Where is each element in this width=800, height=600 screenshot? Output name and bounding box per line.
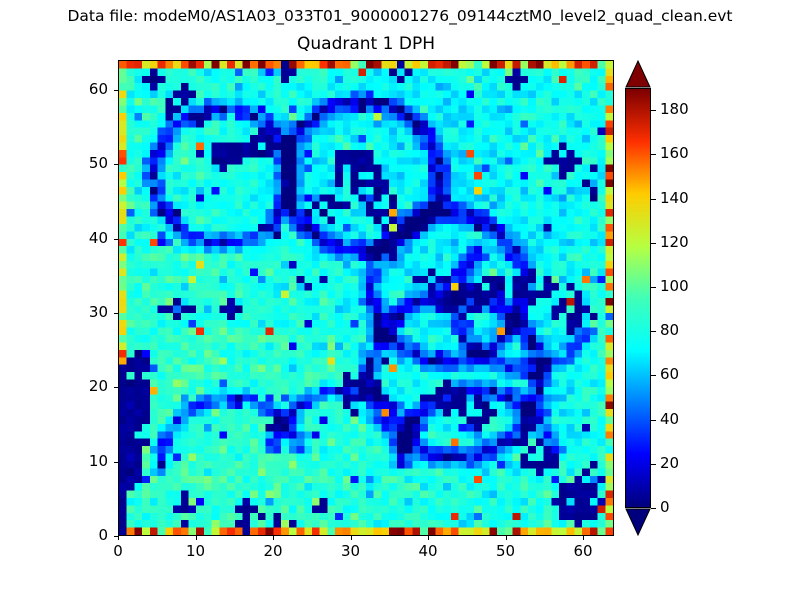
- x-tick-label: 50: [476, 543, 536, 560]
- x-tick-label: 60: [553, 543, 613, 560]
- y-tick-label: 30: [48, 304, 108, 321]
- x-tick-mark: [506, 536, 507, 540]
- x-tick-mark: [351, 536, 352, 540]
- data-file-suptitle: Data file: modeM0/AS1A03_033T01_90000012…: [0, 6, 800, 26]
- x-tick-label: 40: [398, 543, 458, 560]
- colorbar-tick-mark: [651, 243, 656, 244]
- figure-canvas: Data file: modeM0/AS1A03_033T01_90000012…: [0, 0, 800, 600]
- x-tick-mark: [428, 536, 429, 540]
- colorbar-tick-mark: [651, 287, 656, 288]
- x-tick-mark: [583, 536, 584, 540]
- x-tick-label: 20: [243, 543, 303, 560]
- x-tick-label: 0: [88, 543, 148, 560]
- colorbar[interactable]: [625, 60, 651, 536]
- x-tick-mark: [118, 536, 119, 540]
- y-tick-label: 20: [48, 378, 108, 395]
- y-tick-mark: [114, 462, 118, 463]
- colorbar-gradient: [626, 89, 650, 507]
- x-tick-label: 30: [321, 543, 381, 560]
- y-tick-mark: [114, 387, 118, 388]
- colorbar-tick-mark: [651, 508, 656, 509]
- y-tick-label: 0: [48, 527, 108, 544]
- y-tick-label: 10: [48, 453, 108, 470]
- colorbar-tick-label: 80: [660, 322, 679, 339]
- colorbar-tick-mark: [651, 420, 656, 421]
- colorbar-tick-label: 40: [660, 411, 679, 428]
- colorbar-tick-label: 120: [660, 234, 689, 251]
- colorbar-extend-top-arrow-icon: [625, 60, 651, 88]
- colorbar-tick-label: 0: [660, 499, 670, 516]
- colorbar-tick-label: 20: [660, 455, 679, 472]
- page-title: Quadrant 1 DPH: [118, 33, 614, 55]
- x-tick-label: 10: [166, 543, 226, 560]
- y-tick-label: 60: [48, 81, 108, 98]
- colorbar-tick-label: 180: [660, 101, 689, 118]
- colorbar-extend-bottom-arrow-icon: [625, 508, 651, 536]
- x-tick-mark: [196, 536, 197, 540]
- heatmap-axes[interactable]: [118, 60, 614, 536]
- colorbar-tick-mark: [651, 375, 656, 376]
- y-tick-label: 50: [48, 155, 108, 172]
- y-tick-mark: [114, 239, 118, 240]
- colorbar-tick-mark: [651, 110, 656, 111]
- colorbar-tick-label: 140: [660, 190, 689, 207]
- y-tick-mark: [114, 164, 118, 165]
- colorbar-tick-label: 60: [660, 366, 679, 383]
- y-tick-mark: [114, 313, 118, 314]
- colorbar-tick-mark: [651, 331, 656, 332]
- colorbar-tick-mark: [651, 199, 656, 200]
- colorbar-tick-label: 100: [660, 278, 689, 295]
- colorbar-body[interactable]: [625, 88, 651, 508]
- colorbar-tick-label: 160: [660, 145, 689, 162]
- y-tick-label: 40: [48, 230, 108, 247]
- y-tick-mark: [114, 90, 118, 91]
- dph-heatmap-image[interactable]: [119, 61, 613, 535]
- y-tick-mark: [114, 536, 118, 537]
- colorbar-tick-mark: [651, 154, 656, 155]
- x-tick-mark: [273, 536, 274, 540]
- colorbar-tick-mark: [651, 464, 656, 465]
